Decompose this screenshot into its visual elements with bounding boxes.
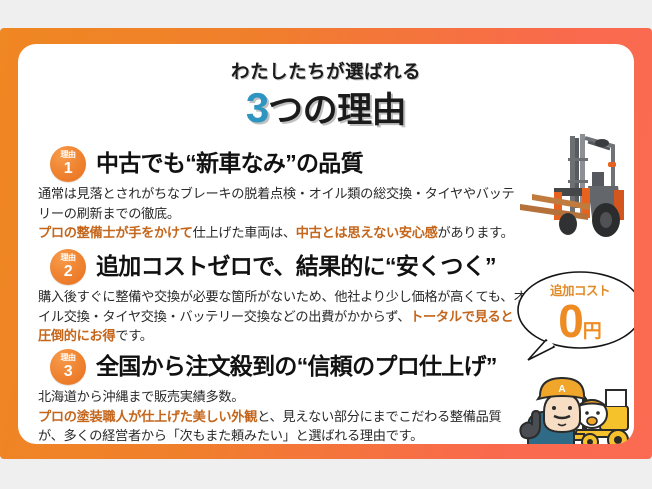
body-text: 通常は見落とされがちなブレーキの脱着点検・オイル類の総交換・タイヤやバッテリーの… xyxy=(38,186,514,221)
reason-block-2: 理由 2 追加コストゼロで、結果的に“安くつく” 購入後すぐに整備や交換が必要な… xyxy=(28,247,526,346)
forklift-photo xyxy=(518,128,634,258)
reason-count-number: 3 xyxy=(246,84,268,131)
highlighted-text: 中古とは思えない安心感 xyxy=(296,225,438,240)
reason-3-body: 北海道から沖縄まで販売実績多数。プロの塗装職人が仕上げた美しい外観と、見えない部… xyxy=(28,387,526,444)
reason-3-title: 全国から注文殺到の“信頼のプロ仕上げ” xyxy=(96,347,497,381)
reason-1-badge-number: 1 xyxy=(50,161,86,176)
reason-1-badge: 理由 1 xyxy=(50,146,86,182)
title-area: わたしたちが選ばれる 3つの理由 xyxy=(18,58,634,131)
reason-3-head: 理由 3 全国から注文殺到の“信頼のプロ仕上げ” xyxy=(28,347,526,387)
page-title: 3つの理由 xyxy=(18,86,634,131)
reason-2-title: 追加コストゼロで、結果的に“安くつく” xyxy=(96,247,496,281)
svg-text:A: A xyxy=(558,384,565,395)
kicker-text: わたしたちが選ばれる xyxy=(18,58,634,84)
body-text: 仕上げた車両は、 xyxy=(193,225,296,240)
highlighted-text: プロの塗装職人が仕上げた美しい外観 xyxy=(38,409,257,424)
reason-1-title: 中古でも“新車なみ”の品質 xyxy=(96,144,363,178)
reason-2-body: 購入後すぐに整備や交換が必要な箇所がないため、他社より少し価格が高くても、オイル… xyxy=(28,287,526,346)
body-paragraph: 購入後すぐに整備や交換が必要な箇所がないため、他社より少し価格が高くても、オイル… xyxy=(38,287,526,346)
body-paragraph: プロの整備士が手をかけて仕上げた車両は、中古とは思えない安心感があります。 xyxy=(38,223,526,243)
worker-thumbs-up-illustration: A xyxy=(514,364,634,444)
body-paragraph: 通常は見落とされがちなブレーキの脱着点検・オイル類の総交換・タイヤやバッテリーの… xyxy=(38,184,526,223)
highlighted-text: プロの整備士が手をかけて xyxy=(38,225,193,240)
reason-3-badge-label: 理由 xyxy=(50,349,86,364)
orange-frame: わたしたちが選ばれる 3つの理由 理由 1 中古でも“新車なみ”の品質 通常は見… xyxy=(0,28,652,459)
reason-2-badge-label: 理由 xyxy=(50,249,86,264)
bubble-currency-unit: 円 xyxy=(583,322,602,341)
bubble-zero-value: 0 xyxy=(558,298,582,344)
body-text: 北海道から沖縄まで販売実績多数。 xyxy=(38,389,244,404)
reason-3-badge-number: 3 xyxy=(50,364,86,379)
reason-2-badge-number: 2 xyxy=(50,264,86,279)
page-title-rest: つの理由 xyxy=(268,91,406,130)
bubble-amount: 0 円 xyxy=(558,298,602,344)
body-paragraph: 北海道から沖縄まで販売実績多数。 xyxy=(38,387,526,407)
body-paragraph: プロの塗装職人が仕上げた美しい外観と、見えない部分にまでこだわる整備品質が、多く… xyxy=(38,407,526,445)
reason-block-3: 理由 3 全国から注文殺到の“信頼のプロ仕上げ” 北海道から沖縄まで販売実績多数… xyxy=(28,347,526,444)
body-text: です。 xyxy=(115,328,152,343)
bubble-text: 追加コスト 0 円 xyxy=(516,270,634,350)
reason-1-body: 通常は見落とされがちなブレーキの脱着点検・オイル類の総交換・タイヤやバッテリーの… xyxy=(28,184,526,243)
zero-cost-speech-bubble: 追加コスト 0 円 xyxy=(516,270,634,362)
reason-2-badge: 理由 2 xyxy=(50,249,86,285)
reason-3-badge: 理由 3 xyxy=(50,349,86,385)
body-text: があります。 xyxy=(438,225,514,240)
reason-1-head: 理由 1 中古でも“新車なみ”の品質 xyxy=(28,144,526,184)
content-card: わたしたちが選ばれる 3つの理由 理由 1 中古でも“新車なみ”の品質 通常は見… xyxy=(18,44,634,444)
reason-1-badge-label: 理由 xyxy=(50,146,86,161)
reason-2-head: 理由 2 追加コストゼロで、結果的に“安くつく” xyxy=(28,247,526,287)
reason-block-1: 理由 1 中古でも“新車なみ”の品質 通常は見落とされがちなブレーキの脱着点検・… xyxy=(28,144,526,243)
